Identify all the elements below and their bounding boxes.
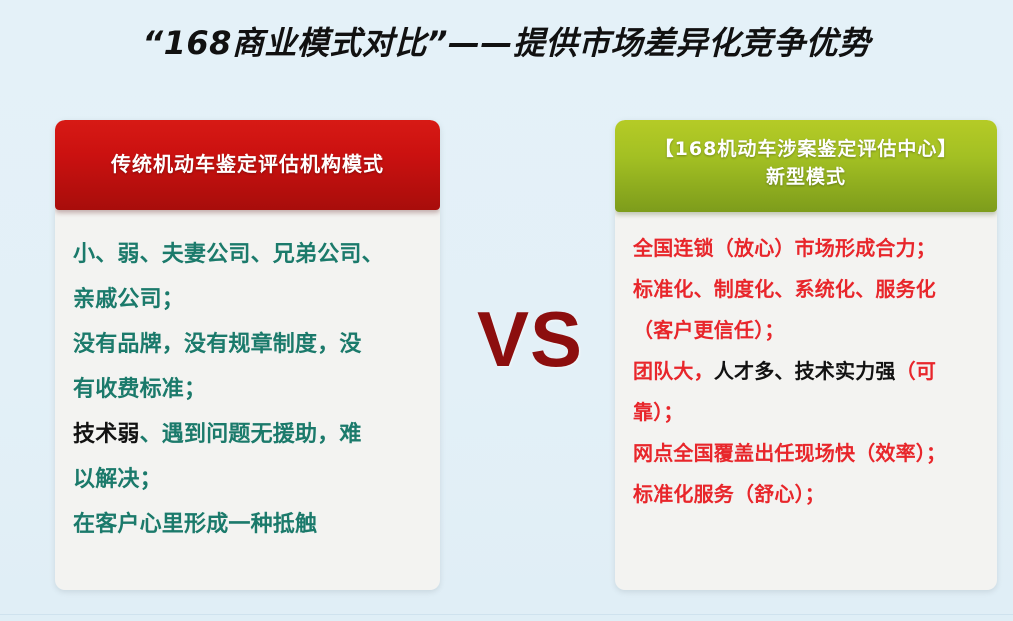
versus-label: VS — [455, 300, 605, 378]
right-line: 全国连锁（放心）市场形成合力； — [633, 228, 985, 269]
left-card-body: 小、弱、夫妻公司、兄弟公司、 亲戚公司； 没有品牌，没有规章制度，没 有收费标准… — [55, 216, 440, 547]
right-line: （客户更信任）； — [633, 310, 985, 351]
right-line-emphasis: 人才多、技术实力强 — [714, 359, 896, 383]
left-line: 技术弱、遇到问题无援助，难 — [73, 412, 424, 457]
left-comparison-card: 传统机动车鉴定评估机构模式 小、弱、夫妻公司、兄弟公司、 亲戚公司； 没有品牌，… — [55, 120, 440, 590]
right-line: 网点全国覆盖出任现场快（效率）； — [633, 433, 985, 474]
page-title: “168商业模式对比”——提供市场差异化竞争优势 — [0, 24, 1013, 62]
left-line: 小、弱、夫妻公司、兄弟公司、 — [73, 232, 424, 277]
left-line: 有收费标准； — [73, 367, 424, 412]
right-line: 团队大，人才多、技术实力强（可 — [633, 351, 985, 392]
left-line: 没有品牌，没有规章制度，没 — [73, 322, 424, 367]
right-card-header-line2: 新型模式 — [615, 164, 997, 192]
right-line: 标准化、制度化、系统化、服务化 — [633, 269, 985, 310]
bottom-strip — [0, 614, 1013, 621]
right-card-header-line1: 【168机动车涉案鉴定评估中心】 — [615, 136, 997, 164]
left-line: 以解决； — [73, 457, 424, 502]
right-line: 标准化服务（舒心）； — [633, 474, 985, 515]
right-card-header: 【168机动车涉案鉴定评估中心】 新型模式 — [615, 120, 997, 212]
left-card-header: 传统机动车鉴定评估机构模式 — [55, 120, 440, 210]
left-line: 在客户心里形成一种抵触 — [73, 502, 424, 547]
right-line: 靠）； — [633, 392, 985, 433]
left-line-emphasis: 技术弱 — [73, 422, 140, 447]
slide-canvas: “168商业模式对比”——提供市场差异化竞争优势 传统机动车鉴定评估机构模式 小… — [0, 0, 1013, 621]
left-line: 亲戚公司； — [73, 277, 424, 322]
right-comparison-card: 【168机动车涉案鉴定评估中心】 新型模式 全国连锁（放心）市场形成合力； 标准… — [615, 120, 997, 590]
right-card-body: 全国连锁（放心）市场形成合力； 标准化、制度化、系统化、服务化 （客户更信任）；… — [615, 220, 997, 515]
